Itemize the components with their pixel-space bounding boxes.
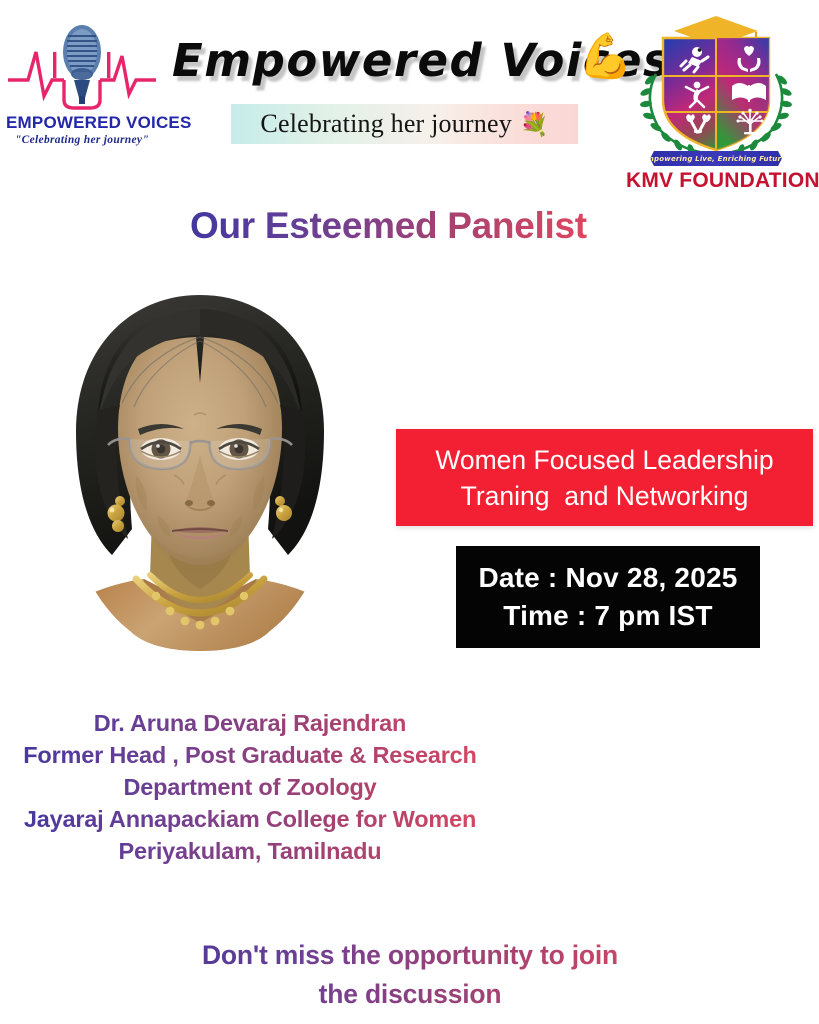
datetime-box: Date : Nov 28, 2025 Time : 7 pm IST bbox=[456, 546, 760, 648]
panelist-details: Dr. Aruna Devaraj Rajendran Former Head … bbox=[0, 707, 500, 867]
kmv-foundation-logo: Empowering Live, Enriching Futures KMV F… bbox=[626, 14, 806, 192]
bouquet-emoji: 💐 bbox=[520, 111, 549, 138]
poster-title: Empowered Voices bbox=[172, 28, 592, 94]
panelist-location: Periyakulam, Tamilnadu bbox=[0, 835, 500, 867]
empowered-voices-logo-name: EMPOWERED VOICES bbox=[6, 113, 158, 133]
topic-line-1: Women Focused Leadership bbox=[435, 442, 773, 478]
time-line: Time : 7 pm IST bbox=[503, 597, 712, 635]
kmv-foundation-name: KMV FOUNDATION bbox=[626, 169, 806, 193]
microphone-heartbeat-icon bbox=[6, 22, 158, 114]
topic-line-2: Traning and Networking bbox=[461, 478, 749, 514]
closing-cta: Don't miss the opportunity to join the d… bbox=[110, 936, 710, 1014]
panelist-name: Dr. Aruna Devaraj Rajendran bbox=[0, 707, 500, 739]
date-line: Date : Nov 28, 2025 bbox=[478, 559, 737, 597]
tagline-banner: Celebrating her journey 💐 bbox=[231, 104, 578, 144]
empowered-voices-logo-tagline: "Celebrating her journey" bbox=[6, 134, 158, 146]
empowered-voices-logo: EMPOWERED VOICES "Celebrating her journe… bbox=[6, 22, 158, 150]
panelist-department: Department of Zoology bbox=[0, 771, 500, 803]
kmv-ribbon-text: Empowering Live, Enriching Futures bbox=[642, 155, 791, 163]
panelist-designation: Former Head , Post Graduate & Research bbox=[0, 739, 500, 771]
panelist-portrait bbox=[24, 279, 376, 679]
page-title: Our Esteemed Panelist bbox=[190, 203, 587, 249]
topic-banner: Women Focused Leadership Traning and Net… bbox=[396, 429, 813, 526]
panelist-institution: Jayaraj Annapackiam College for Women bbox=[0, 803, 500, 835]
kmv-ribbon: Empowering Live, Enriching Futures bbox=[650, 151, 782, 166]
poster-canvas: EMPOWERED VOICES "Celebrating her journe… bbox=[0, 0, 819, 1024]
cta-line-2: the discussion bbox=[110, 975, 710, 1014]
poster-header: EMPOWERED VOICES "Celebrating her journe… bbox=[0, 0, 819, 200]
kmv-shield-crest-icon bbox=[626, 14, 806, 156]
tagline-banner-text: Celebrating her journey bbox=[260, 109, 512, 139]
cta-line-1: Don't miss the opportunity to join bbox=[110, 936, 710, 975]
flexed-biceps-emoji: 💪 bbox=[578, 35, 633, 79]
